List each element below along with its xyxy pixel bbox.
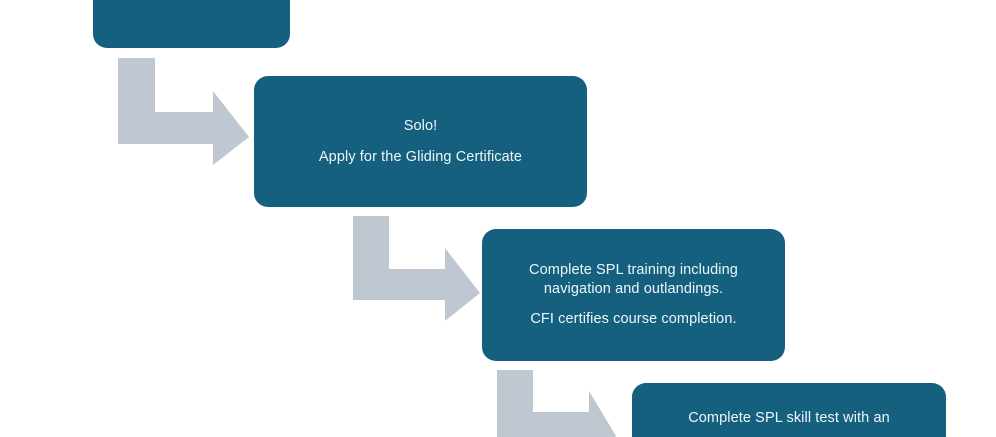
- flowchart-canvas: Solo! Apply for the Gliding Certificate …: [0, 0, 996, 437]
- flow-box-solo-line-2: Apply for the Gliding Certificate: [268, 148, 573, 167]
- flow-box-spl-training-paragraph-2: CFI certifies course completion.: [496, 310, 771, 329]
- flow-box-solo[interactable]: Solo! Apply for the Gliding Certificate: [254, 76, 587, 207]
- flow-box-spl-training[interactable]: Complete SPL training including navigati…: [482, 229, 785, 361]
- elbow-arrow-right-icon: [118, 58, 250, 166]
- elbow-arrow-right-icon: [353, 216, 481, 322]
- flow-box-skill-test-line-1: Complete SPL skill test with an: [646, 409, 932, 428]
- flow-box-spl-training-line-3: CFI certifies course completion.: [496, 310, 771, 329]
- flow-box-spl-training-line-1: Complete SPL training including: [496, 261, 771, 280]
- flow-box-spl-training-paragraph-1: Complete SPL training including navigati…: [496, 261, 771, 299]
- flow-box-spl-training-line-2: navigation and outlandings.: [496, 280, 771, 299]
- flow-box-solo-line-1: Solo!: [268, 117, 573, 136]
- elbow-arrow-right-icon: [497, 370, 617, 437]
- flow-box-start[interactable]: [93, 0, 290, 48]
- flow-box-skill-test[interactable]: Complete SPL skill test with an: [632, 383, 946, 437]
